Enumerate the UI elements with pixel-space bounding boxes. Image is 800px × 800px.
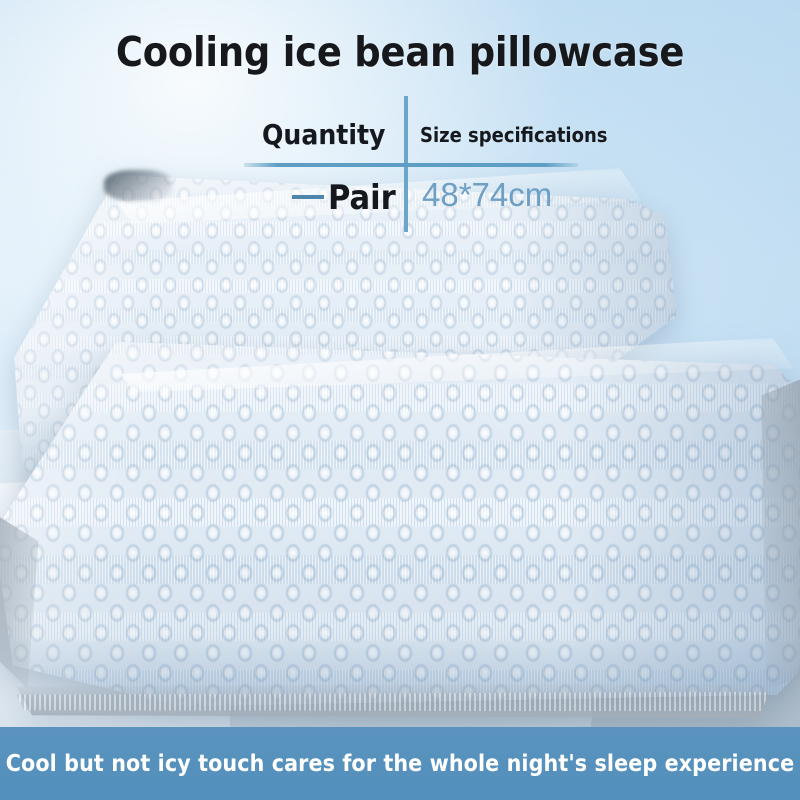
spec-table-horizontal-divider bbox=[244, 163, 578, 167]
pillow-front-bottom-stitching bbox=[9, 692, 777, 712]
spec-table: Quantity Size specifications Pair 48*74c… bbox=[238, 96, 584, 236]
product-image: Cooling ice bean pillowcase Quantity Siz… bbox=[0, 0, 800, 800]
page-title: Cooling ice bean pillowcase bbox=[0, 28, 800, 76]
bottom-banner-text: Cool but not icy touch cares for the who… bbox=[6, 751, 794, 777]
spec-quantity-label: Quantity bbox=[262, 118, 385, 151]
spec-size-value: 48*74cm bbox=[422, 176, 552, 214]
pillow-back-corner-seam bbox=[104, 170, 172, 201]
spec-quantity-value: Pair bbox=[292, 178, 396, 218]
pillow-front bbox=[0, 330, 800, 720]
spec-size-label: Size specifications bbox=[420, 123, 607, 147]
spec-quantity-value-text: Pair bbox=[328, 178, 396, 218]
bottom-banner: Cool but not icy touch cares for the who… bbox=[0, 727, 800, 800]
spec-quantity-dash bbox=[292, 195, 324, 199]
pillow-front-piping bbox=[0, 330, 800, 720]
pillow-front-right-binding bbox=[761, 377, 800, 689]
